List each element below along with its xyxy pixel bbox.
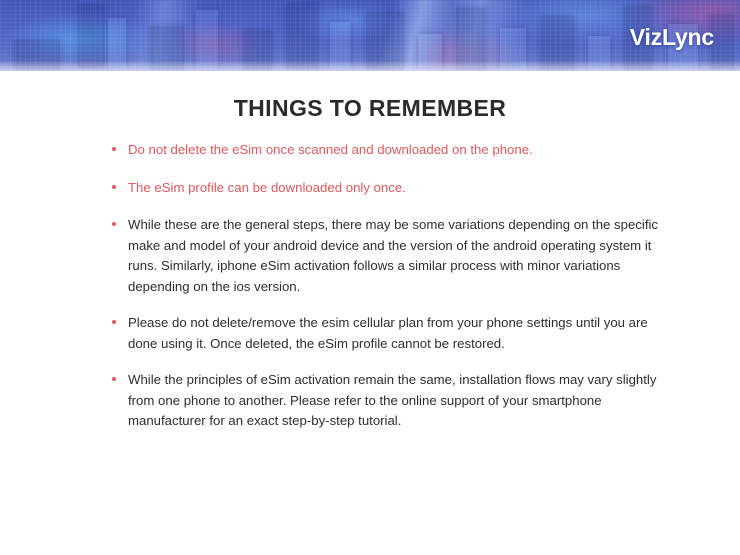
header-banner: VizLync <box>0 0 740 71</box>
bullet-dot-icon <box>112 185 116 189</box>
list-item: Do not delete the eSim once scanned and … <box>110 140 658 161</box>
list-item-text: While the principles of eSim activation … <box>128 372 656 428</box>
remember-bullet-list: Do not delete the eSim once scanned and … <box>110 140 658 448</box>
page-title: THINGS TO REMEMBER <box>0 95 740 122</box>
list-item: Please do not delete/remove the esim cel… <box>110 313 658 354</box>
list-item: The eSim profile can be downloaded only … <box>110 178 658 199</box>
bullet-dot-icon <box>112 377 116 381</box>
list-item-text: Please do not delete/remove the esim cel… <box>128 315 648 351</box>
vizlync-logo: VizLync <box>630 24 714 51</box>
list-item-text: Do not delete the eSim once scanned and … <box>128 142 533 157</box>
bullet-dot-icon <box>112 222 116 226</box>
banner-bottom-fade <box>0 61 740 71</box>
list-item: While the principles of eSim activation … <box>110 370 658 432</box>
list-item-text: While these are the general steps, there… <box>128 217 658 294</box>
bullet-dot-icon <box>112 147 116 151</box>
bullet-dot-icon <box>112 320 116 324</box>
list-item-text: The eSim profile can be downloaded only … <box>128 180 406 195</box>
list-item: While these are the general steps, there… <box>110 215 658 297</box>
